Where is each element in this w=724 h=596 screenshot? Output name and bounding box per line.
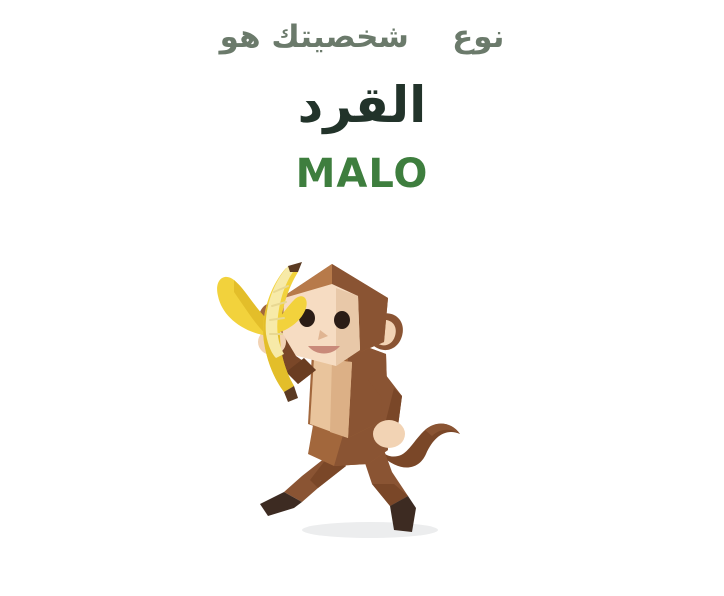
result-text-block: نوع شخصيتك هو القرد MALO	[0, 0, 724, 197]
personality-result-card: نوع شخصيتك هو القرد MALO	[0, 0, 724, 596]
monkey-tail-highlight-icon	[425, 424, 460, 436]
ground-shadow-icon	[302, 522, 438, 538]
result-title: القرد	[0, 76, 724, 135]
banana-top-tip-icon	[288, 262, 302, 272]
monkey-right-eye-icon	[334, 311, 350, 329]
monkey-illustration-container	[212, 258, 512, 558]
monkey-back-hand-icon	[373, 420, 405, 448]
result-eyebrow-label: نوع شخصيتك هو	[0, 18, 724, 58]
monkey-with-banana-icon	[212, 258, 512, 558]
result-type-code: MALO	[0, 151, 724, 197]
